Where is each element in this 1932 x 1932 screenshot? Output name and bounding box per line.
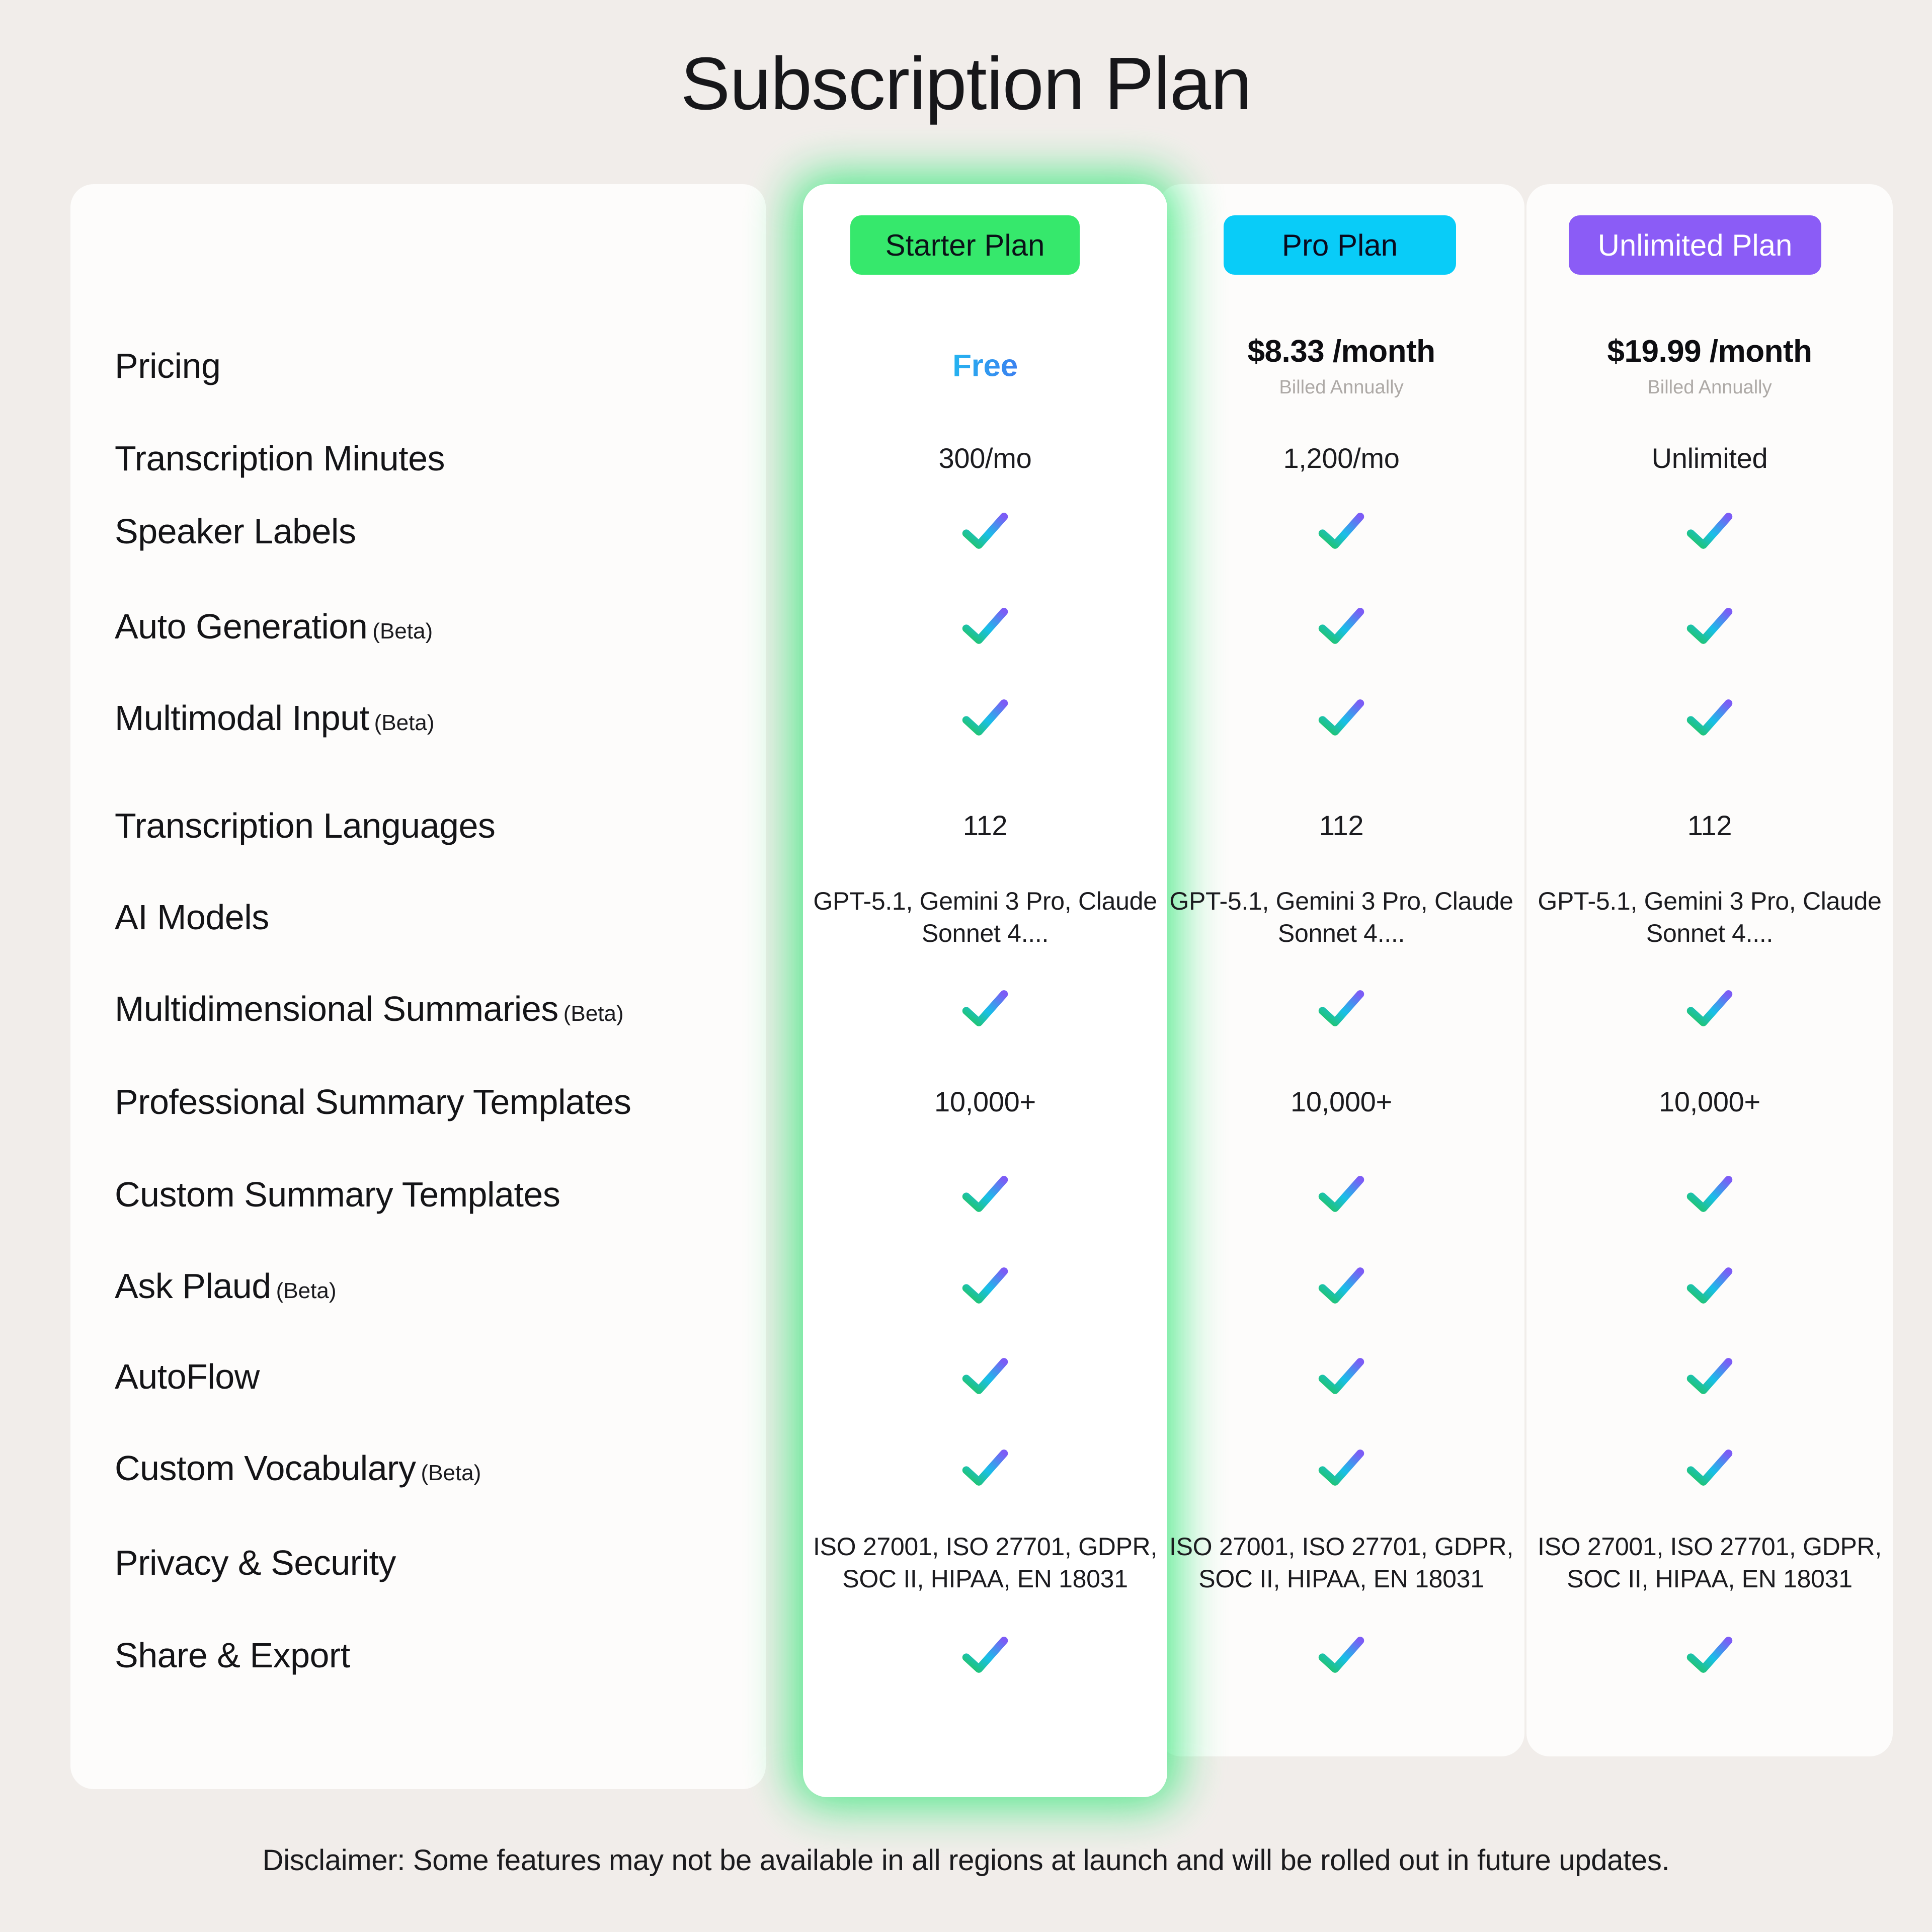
subscription-plan-page: Subscription Plan Starter Plan Pro Plan … [0, 0, 1932, 1932]
feature-included-check [1527, 1260, 1892, 1312]
price-amount: $8.33 /month [1248, 334, 1435, 369]
check-icon [1315, 1629, 1367, 1681]
feature-included-check [1527, 1168, 1892, 1221]
check-icon [1315, 1168, 1367, 1221]
feature-included-check [1159, 1442, 1523, 1494]
feature-included-check [1159, 983, 1523, 1035]
disclaimer-text: Disclaimer: Some features may not be ava… [0, 1843, 1932, 1877]
check-icon [959, 505, 1011, 557]
billing-note: Billed Annually [1527, 375, 1892, 400]
feature-label: Custom Vocabulary(Beta) [115, 1448, 481, 1488]
feature-value-cell: $8.33 /monthBilled Annually [1159, 332, 1523, 400]
feature-included-check [1159, 692, 1523, 744]
beta-tag: (Beta) [276, 1278, 337, 1303]
check-icon [1315, 1260, 1367, 1312]
check-icon [1683, 1442, 1736, 1494]
feature-value-cell: 300/mo [803, 440, 1167, 476]
pro-plan-card[interactable] [1158, 184, 1524, 1756]
feature-label: AutoFlow [115, 1356, 260, 1397]
feature-value-cell: 1,200/mo [1159, 440, 1523, 476]
check-icon [959, 1629, 1011, 1681]
price-amount-free: Free [952, 348, 1018, 383]
feature-label: Auto Generation(Beta) [115, 606, 433, 647]
feature-label: Privacy & Security [115, 1543, 396, 1583]
check-icon [959, 1260, 1011, 1312]
check-icon [1315, 983, 1367, 1035]
check-icon [959, 1442, 1011, 1494]
feature-label: Multimodal Input(Beta) [115, 698, 434, 738]
beta-tag: (Beta) [563, 1001, 624, 1026]
check-icon [1315, 505, 1367, 557]
feature-label: Pricing [115, 346, 220, 386]
badge-starter-plan[interactable]: Starter Plan [850, 215, 1080, 275]
feature-value-cell: 112 [1159, 808, 1523, 844]
feature-label: Multidimensional Summaries(Beta) [115, 989, 624, 1029]
feature-included-check [803, 983, 1167, 1035]
check-icon [959, 983, 1011, 1035]
check-icon [1683, 1629, 1736, 1681]
beta-tag: (Beta) [421, 1461, 481, 1485]
feature-included-check [803, 1260, 1167, 1312]
unlimited-plan-card[interactable] [1526, 184, 1893, 1756]
check-icon [1683, 692, 1736, 744]
check-icon [959, 600, 1011, 653]
feature-included-check [1159, 600, 1523, 653]
feature-included-check [1159, 1629, 1523, 1681]
feature-label: Ask Plaud(Beta) [115, 1266, 337, 1306]
feature-value-cell: ISO 27001, ISO 27701, GDPR, SOC II, HIPA… [1527, 1531, 1892, 1595]
check-icon [1315, 1350, 1367, 1403]
feature-value-cell: 112 [803, 808, 1167, 844]
price-amount: $19.99 /month [1607, 334, 1812, 369]
feature-label: Transcription Languages [115, 806, 495, 846]
feature-value-cell: GPT-5.1, Gemini 3 Pro, Claude Sonnet 4..… [1159, 885, 1523, 949]
feature-included-check [1159, 1260, 1523, 1312]
feature-value-cell: Free [803, 346, 1167, 385]
feature-included-check [803, 505, 1167, 557]
page-title: Subscription Plan [0, 43, 1932, 125]
feature-value-cell: Unlimited [1527, 440, 1892, 476]
feature-included-check [1159, 1350, 1523, 1403]
feature-included-check [1527, 1350, 1892, 1403]
feature-label: Professional Summary Templates [115, 1082, 631, 1122]
check-icon [959, 1350, 1011, 1403]
feature-value-cell: 112 [1527, 808, 1892, 844]
feature-included-check [1527, 983, 1892, 1035]
feature-value-cell: GPT-5.1, Gemini 3 Pro, Claude Sonnet 4..… [1527, 885, 1892, 949]
beta-tag: (Beta) [372, 619, 433, 643]
beta-tag: (Beta) [374, 710, 435, 735]
feature-included-check [803, 1442, 1167, 1494]
feature-value-cell: $19.99 /monthBilled Annually [1527, 332, 1892, 400]
check-icon [1683, 1168, 1736, 1221]
feature-included-check [803, 1168, 1167, 1221]
check-icon [1683, 1260, 1736, 1312]
feature-included-check [1527, 505, 1892, 557]
check-icon [1315, 600, 1367, 653]
feature-label: AI Models [115, 897, 269, 937]
badge-pro-plan[interactable]: Pro Plan [1224, 215, 1456, 275]
check-icon [1315, 692, 1367, 744]
feature-label: Share & Export [115, 1635, 350, 1675]
feature-label: Transcription Minutes [115, 438, 445, 478]
billing-note: Billed Annually [1159, 375, 1523, 400]
check-icon [1683, 983, 1736, 1035]
check-icon [1683, 505, 1736, 557]
check-icon [959, 1168, 1011, 1221]
feature-label: Custom Summary Templates [115, 1174, 560, 1215]
feature-included-check [803, 1629, 1167, 1681]
feature-included-check [1527, 1629, 1892, 1681]
feature-value-cell: 10,000+ [1159, 1084, 1523, 1120]
feature-included-check [1159, 1168, 1523, 1221]
feature-value-cell: ISO 27001, ISO 27701, GDPR, SOC II, HIPA… [803, 1531, 1167, 1595]
feature-value-cell: 10,000+ [1527, 1084, 1892, 1120]
check-icon [1683, 1350, 1736, 1403]
badge-unlimited-plan[interactable]: Unlimited Plan [1569, 215, 1821, 275]
feature-included-check [1527, 692, 1892, 744]
feature-value-cell: GPT-5.1, Gemini 3 Pro, Claude Sonnet 4..… [803, 885, 1167, 949]
feature-included-check [1527, 1442, 1892, 1494]
feature-value-cell: 10,000+ [803, 1084, 1167, 1120]
feature-value-cell: ISO 27001, ISO 27701, GDPR, SOC II, HIPA… [1159, 1531, 1523, 1595]
feature-included-check [1159, 505, 1523, 557]
feature-included-check [1527, 600, 1892, 653]
feature-included-check [803, 1350, 1167, 1403]
check-icon [959, 692, 1011, 744]
feature-label: Speaker Labels [115, 511, 356, 551]
check-icon [1315, 1442, 1367, 1494]
feature-included-check [803, 692, 1167, 744]
check-icon [1683, 600, 1736, 653]
feature-included-check [803, 600, 1167, 653]
